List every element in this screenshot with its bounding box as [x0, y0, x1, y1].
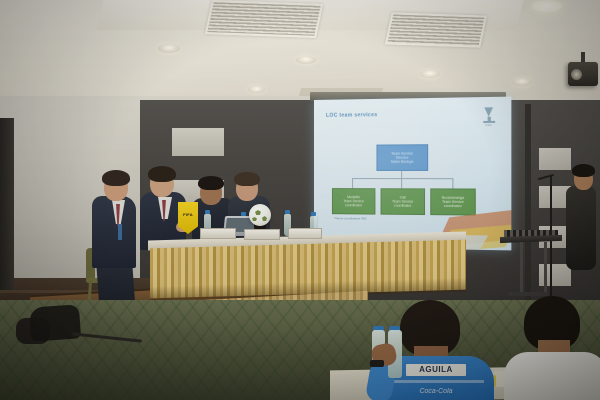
equipment-bag: [29, 304, 81, 341]
jersey-sponsor-secondary-text: Coca-Cola: [412, 388, 460, 398]
standing-person-torso: [566, 186, 596, 270]
jersey-sponsor-text: AGUILA: [406, 364, 466, 376]
panelist-1-lanyard: [118, 224, 122, 240]
audience-member-white-shirt: [508, 296, 600, 400]
bottle-cap: [285, 210, 290, 214]
air-vent-icon: [205, 0, 323, 38]
jersey-stripe: [388, 380, 484, 383]
audience-member-blue-jersey: AGUILA Coca-Cola: [372, 300, 498, 400]
name-placard: [288, 228, 322, 239]
projector-lens: [571, 69, 582, 80]
wall-panel-inset: [172, 128, 224, 156]
wall-divider: [525, 104, 531, 304]
ball-panel: [262, 216, 267, 221]
bottle-cap: [205, 210, 210, 214]
panelist-4-hair: [234, 172, 260, 186]
panelist-1-hair: [102, 170, 130, 186]
ceiling-downlight: [420, 70, 440, 78]
door-frame: [0, 118, 14, 290]
audience-2-shirt: [504, 352, 600, 400]
panelist-3-hair: [198, 176, 224, 190]
ceiling-downlight: [158, 44, 180, 53]
wristwatch: [370, 360, 384, 367]
wall-panel-inset: [539, 148, 571, 170]
ceiling-downlight: [248, 86, 265, 93]
name-placard: [200, 228, 236, 239]
air-vent-icon: [385, 12, 487, 47]
projector-icon: [568, 62, 598, 86]
pennant-label: FIFA: [178, 212, 198, 217]
equipment-table-leg: [520, 242, 523, 294]
soccer-ball: [249, 204, 271, 226]
name-placard: [244, 229, 280, 240]
ball-panel: [252, 217, 257, 221]
ceiling-downlight: [512, 78, 532, 86]
equipment-table-leg: [544, 242, 547, 292]
projection-screen: LOC team services FIFA Team Service Dire…: [314, 97, 511, 251]
bottle-cap: [311, 212, 316, 216]
ceiling-downlight-bright: [532, 0, 562, 12]
screen-glare: [314, 97, 511, 251]
conference-room-photo: LOC team services FIFA Team Service Dire…: [0, 0, 600, 400]
ball-panel: [255, 210, 261, 215]
standing-person-hair: [572, 164, 595, 177]
panelist-2-hair: [148, 166, 176, 182]
ceiling-downlight: [296, 56, 316, 64]
